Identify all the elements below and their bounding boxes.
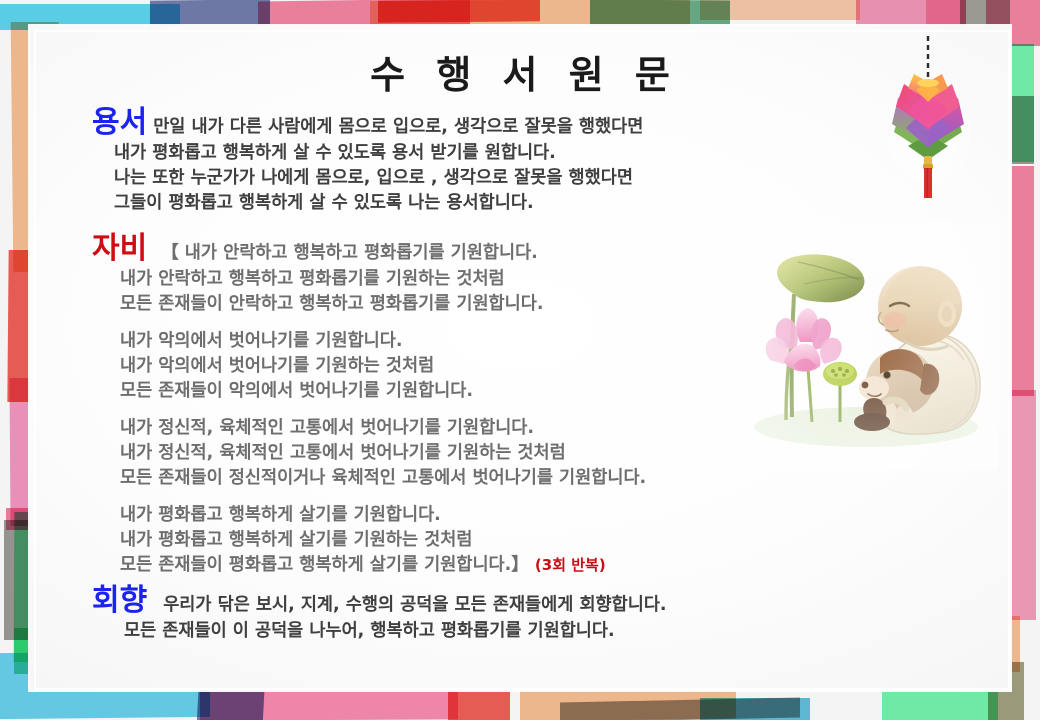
compassion-s1-line-1: 【 내가 안락하고 행복하고 평화롭기를 기원합니다. xyxy=(161,241,538,266)
monk-with-puppy-icon xyxy=(748,222,998,470)
dedication-first-row: 회향 우리가 닦은 보시, 지계, 수행의 공덕을 모든 존재들에게 회향합니다… xyxy=(92,586,667,618)
compassion-stanza-3: 내가 정신적, 육체적인 고통에서 벗어나기를 기원합니다. 내가 정신적, 육… xyxy=(120,416,646,491)
forgiveness-line-3: 나는 또한 누군가가 나에게 몸으로, 입으로 , 생각으로 잘못을 행했다면 xyxy=(114,166,643,191)
compassion-s2-line-2: 내가 악의에서 벗어나기를 기원하는 것처럼 xyxy=(120,354,646,379)
compassion-s2-line-1: 내가 악의에서 벗어나기를 기원합니다. xyxy=(120,329,646,354)
compassion-s2-line-3: 모든 존재들이 악의에서 벗어나기를 기원합니다. xyxy=(120,379,646,404)
compassion-stanza-1: 내가 안락하고 행복하고 평화롭기를 기원하는 것처럼 모든 존재들이 안락하고… xyxy=(120,267,646,317)
section-heading-forgiveness: 용서 xyxy=(92,108,147,138)
compassion-s3-line-2: 내가 정신적, 육체적인 고통에서 벗어나기를 기원하는 것처럼 xyxy=(120,441,646,466)
compassion-s4-line-1: 내가 평화롭고 행복하게 살기를 기원합니다. xyxy=(120,503,646,528)
section-heading-dedication: 회향 xyxy=(92,586,147,616)
section-heading-compassion: 자비 xyxy=(92,234,147,264)
compassion-s1-line-2: 내가 안락하고 행복하고 평화롭기를 기원하는 것처럼 xyxy=(120,267,646,292)
forgiveness-line-4: 그들이 평화롭고 행복하게 살 수 있도록 나는 용서합니다. xyxy=(114,191,643,216)
forgiveness-body: 내가 평화롭고 행복하게 살 수 있도록 용서 받기를 원합니다. 나는 또한 … xyxy=(114,141,643,216)
forgiveness-first-row: 용서 만일 내가 다른 사람에게 몸으로 입으로, 생각으로 잘못을 행했다면 xyxy=(92,108,643,140)
compassion-s4-line-3-text: 모든 존재들이 평화롭고 행복하게 살기를 기원합니다.】 xyxy=(120,555,529,575)
compassion-s3-line-3: 모든 존재들이 정신적이거나 육체적인 고통에서 벗어나기를 기원합니다. xyxy=(120,466,646,491)
dedication-line-2: 모든 존재들이 이 공덕을 나누어, 행복하고 평화롭기를 기원합니다. xyxy=(124,619,667,644)
section-dedication: 회향 우리가 닦은 보시, 지계, 수행의 공덕을 모든 존재들에게 회향합니다… xyxy=(92,586,667,644)
compassion-stanza-4: 내가 평화롭고 행복하게 살기를 기원합니다. 내가 평화롭고 행복하게 살기를… xyxy=(120,503,646,578)
dedication-line-1: 우리가 닦은 보시, 지계, 수행의 공덕을 모든 존재들에게 회향합니다. xyxy=(163,593,666,618)
compassion-first-row: 자비 【 내가 안락하고 행복하고 평화롭기를 기원합니다. xyxy=(92,234,646,266)
compassion-s3-line-1: 내가 정신적, 육체적인 고통에서 벗어나기를 기원합니다. xyxy=(120,416,646,441)
lotus-lantern-icon xyxy=(878,36,978,206)
forgiveness-line-2: 내가 평화롭고 행복하게 살 수 있도록 용서 받기를 원합니다. xyxy=(114,141,643,166)
section-forgiveness: 용서 만일 내가 다른 사람에게 몸으로 입으로, 생각으로 잘못을 행했다면 … xyxy=(92,108,643,216)
forgiveness-line-1: 만일 내가 다른 사람에게 몸으로 입으로, 생각으로 잘못을 행했다면 xyxy=(153,115,643,140)
compassion-s1-line-3: 모든 존재들이 안락하고 행복하고 평화롭기를 기원합니다. xyxy=(120,292,646,317)
poster-root: 수 행 서 원 문 용서 만일 내가 다른 사람에게 몸으로 입으로, 생각으로… xyxy=(0,0,1040,720)
compassion-s4-line-3: 모든 존재들이 평화롭고 행복하게 살기를 기원합니다.】 (3회 반복) xyxy=(120,553,646,578)
repeat-note: (3회 반복) xyxy=(535,556,606,574)
dedication-body: 모든 존재들이 이 공덕을 나누어, 행복하고 평화롭기를 기원합니다. xyxy=(124,619,667,644)
section-compassion: 자비 【 내가 안락하고 행복하고 평화롭기를 기원합니다. 내가 안락하고 행… xyxy=(92,234,646,578)
compassion-s4-line-2: 내가 평화롭고 행복하게 살기를 기원하는 것처럼 xyxy=(120,528,646,553)
compassion-stanza-2: 내가 악의에서 벗어나기를 기원합니다. 내가 악의에서 벗어나기를 기원하는 … xyxy=(120,329,646,404)
